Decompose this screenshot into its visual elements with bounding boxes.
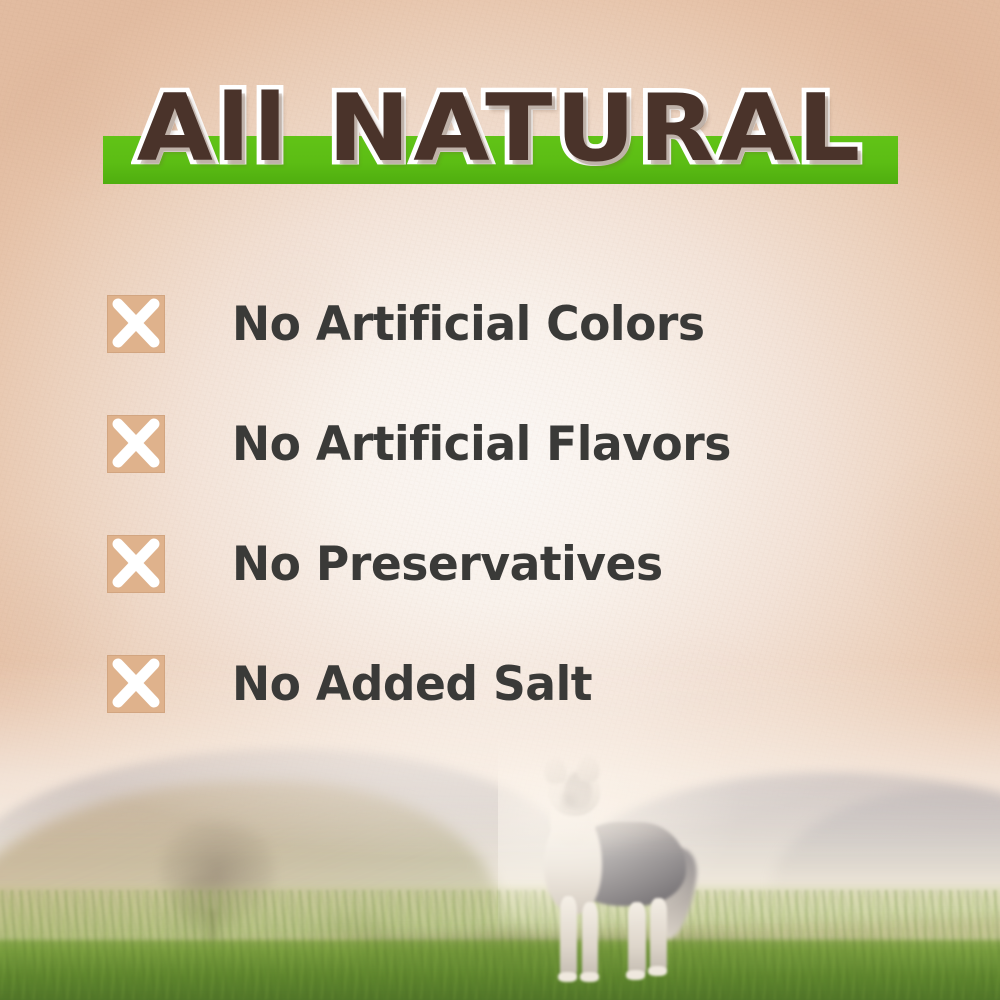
page-title: All NATURAL: [0, 76, 1000, 180]
dog-front-leg: [582, 902, 598, 978]
dog-paw: [580, 972, 599, 982]
claims-list: No Artificial Colors No Artificial Flavo…: [107, 264, 907, 744]
headline-block: All NATURAL: [0, 76, 1000, 196]
claim-row: No Artificial Flavors: [107, 384, 907, 504]
claim-row: No Preservatives: [107, 504, 907, 624]
x-mark-icon: [107, 655, 165, 713]
dog-paw: [626, 970, 645, 980]
x-mark-icon: [107, 535, 165, 593]
claim-label: No Artificial Colors: [232, 301, 705, 348]
claim-label: No Preservatives: [232, 541, 663, 588]
dog-back-leg: [628, 902, 646, 976]
claim-label: No Added Salt: [232, 661, 592, 708]
claim-label: No Artificial Flavors: [232, 421, 731, 468]
dog-paw: [558, 972, 577, 982]
x-mark-icon: [107, 295, 165, 353]
x-mark-icon: [107, 415, 165, 473]
dog-ear: [576, 754, 602, 783]
all-natural-product-poster: All NATURAL No Artificial Colors No Arti…: [0, 0, 1000, 1000]
claim-row: No Artificial Colors: [107, 264, 907, 384]
dog-snout: [560, 792, 580, 812]
claim-row: No Added Salt: [107, 624, 907, 744]
dog-ear: [542, 756, 569, 786]
dog-paw: [648, 966, 667, 976]
grass-texture: [0, 890, 1000, 1000]
dog-back-leg: [650, 898, 667, 972]
dog-front-leg: [560, 896, 577, 978]
border-collie-dog: [520, 756, 730, 996]
